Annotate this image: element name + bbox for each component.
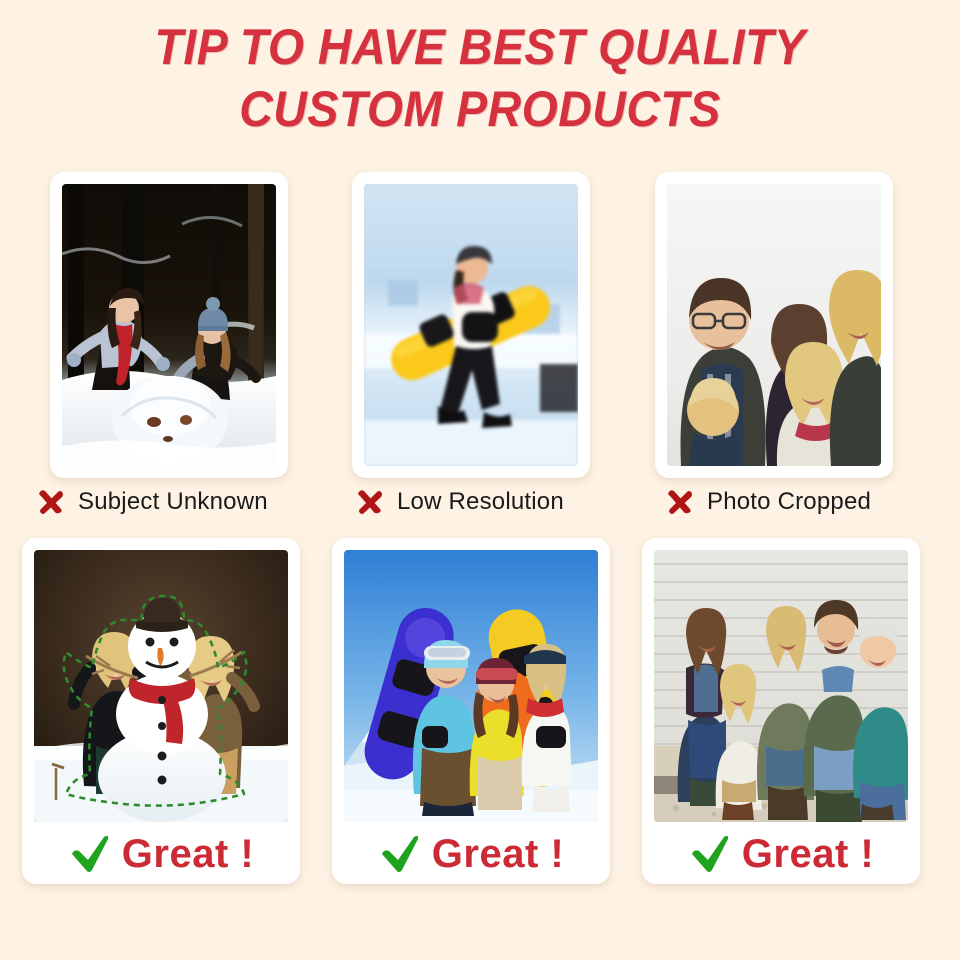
check-mark-icon (688, 832, 732, 876)
x-mark-icon (665, 487, 695, 517)
scene-family-barn (654, 550, 908, 822)
great-text: Great ! (432, 832, 564, 876)
check-mark-icon (378, 832, 422, 876)
scene-snowboarders (344, 550, 598, 822)
check-mark-icon (68, 832, 112, 876)
photo-great-snowboarders (344, 550, 598, 822)
great-label-snowman: Great ! (34, 828, 288, 880)
scene-snowman-cutout (34, 550, 288, 822)
caption-low-resolution: Low Resolution (355, 484, 564, 520)
title-line-2: CUSTOM PRODUCTS (34, 78, 927, 140)
caption-photo-cropped: Photo Cropped (665, 484, 871, 520)
scene-blurry-snowboarder (364, 184, 578, 466)
great-text: Great ! (122, 832, 254, 876)
photo-subject-unknown (62, 184, 276, 466)
x-mark-icon (36, 487, 66, 517)
x-mark-icon (355, 487, 385, 517)
card-subject-unknown (50, 172, 288, 478)
photo-low-resolution (364, 184, 578, 466)
great-label-family: Great ! (654, 828, 908, 880)
promo-banner: TIP TO HAVE BEST QUALITY CUSTOM PRODUCTS (0, 0, 960, 960)
card-low-resolution (352, 172, 590, 478)
card-great-family: Great ! (642, 538, 920, 884)
card-great-snowman: Great ! (22, 538, 300, 884)
card-photo-cropped (655, 172, 893, 478)
photo-great-family (654, 550, 908, 822)
caption-text: Low Resolution (397, 488, 564, 516)
caption-subject-unknown: Subject Unknown (36, 484, 268, 520)
caption-text: Photo Cropped (707, 488, 871, 516)
photo-photo-cropped (667, 184, 881, 466)
photo-great-snowman (34, 550, 288, 822)
great-text: Great ! (742, 832, 874, 876)
title-line-1: TIP TO HAVE BEST QUALITY (34, 16, 927, 78)
caption-text: Subject Unknown (78, 488, 268, 516)
great-label-snowboarders: Great ! (344, 828, 598, 880)
scene-snowy-forest (62, 184, 276, 466)
card-great-snowboarders: Great ! (332, 538, 610, 884)
scene-cropped-family (667, 184, 881, 466)
page-title: TIP TO HAVE BEST QUALITY CUSTOM PRODUCTS (0, 16, 960, 140)
